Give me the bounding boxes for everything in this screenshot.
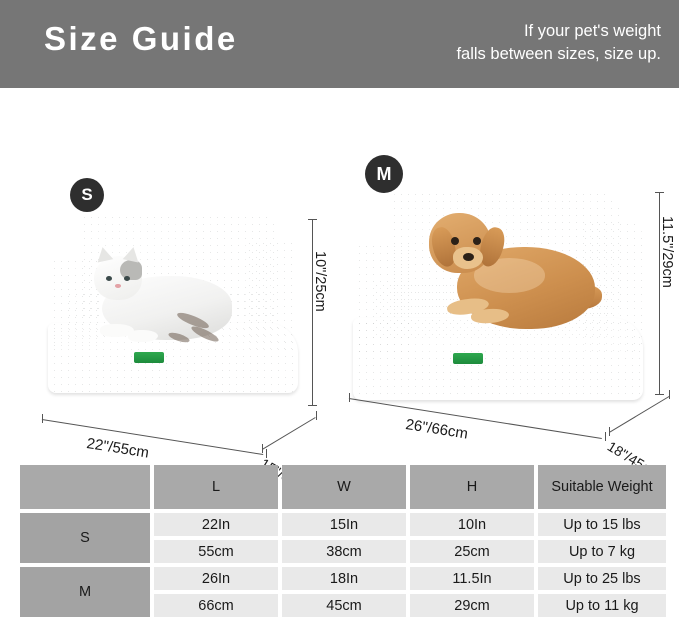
dimension-height-small: 10"/25cm xyxy=(298,215,338,415)
cat-eye-right xyxy=(124,276,130,281)
product-panel-medium: M xyxy=(345,150,675,435)
cat-eye-left xyxy=(106,276,112,281)
dog-eye-left xyxy=(451,237,459,245)
dog-head xyxy=(429,213,491,273)
subtitle-line-1: If your pet's weight xyxy=(401,20,661,43)
dog-illustration xyxy=(413,207,598,337)
brand-tag-medium xyxy=(453,353,483,364)
table-header-blank xyxy=(20,465,150,509)
cell-m-l-imperial: 26In xyxy=(154,567,278,590)
page-title: Size Guide xyxy=(44,17,238,61)
dimension-cap-bottom xyxy=(655,394,664,395)
dimension-line xyxy=(262,417,316,450)
dog-eye-right xyxy=(473,237,481,245)
table-header-row: L W H Suitable Weight xyxy=(20,465,666,509)
table-header-h: H xyxy=(410,465,534,509)
dimension-height-medium: 11.5"/29cm xyxy=(645,188,679,403)
cell-s-weight-imperial: Up to 15 lbs xyxy=(538,513,666,536)
dimension-width-label-small: 22"/55cm xyxy=(85,435,150,462)
cat-paw xyxy=(128,330,158,342)
cell-s-w-metric: 38cm xyxy=(282,540,406,563)
table-row: M 26In 18In 11.5In Up to 25 lbs xyxy=(20,567,666,590)
table-header-suitable-weight: Suitable Weight xyxy=(538,465,666,509)
specification-table: L W H Suitable Weight S 22In 15In 10In U… xyxy=(16,461,670,621)
dimension-width-label-medium: 26"/66cm xyxy=(404,416,469,443)
cell-m-weight-metric: Up to 11 kg xyxy=(538,594,666,617)
dimension-height-label-small: 10"/25cm xyxy=(312,251,328,312)
table-header-l: L xyxy=(154,465,278,509)
size-badge-small: S xyxy=(70,178,104,212)
dimension-cap-top xyxy=(308,219,317,220)
cell-m-h-metric: 29cm xyxy=(410,594,534,617)
table-row: S 22In 15In 10In Up to 15 lbs xyxy=(20,513,666,536)
dimension-cap-start xyxy=(42,414,43,423)
size-badge-medium: M xyxy=(365,155,403,193)
cell-m-l-metric: 66cm xyxy=(154,594,278,617)
table-size-label-m: M xyxy=(20,567,150,617)
dimension-cap-bottom xyxy=(308,405,317,406)
cell-m-w-imperial: 18In xyxy=(282,567,406,590)
product-panel-small: S xyxy=(30,163,330,433)
cell-s-l-metric: 55cm xyxy=(154,540,278,563)
cell-m-w-metric: 45cm xyxy=(282,594,406,617)
dimension-cap-start xyxy=(262,444,263,453)
dimension-cap-start xyxy=(349,393,350,402)
dimension-line xyxy=(312,219,313,405)
header-band: Size Guide If your pet's weight falls be… xyxy=(0,0,679,88)
cat-head xyxy=(94,256,142,300)
pet-bed-small-illustration xyxy=(48,208,298,393)
product-showcase: S xyxy=(0,88,679,455)
cell-s-l-imperial: 22In xyxy=(154,513,278,536)
subtitle-line-2: falls between sizes, size up. xyxy=(401,43,661,66)
dimension-height-label-medium: 11.5"/29cm xyxy=(659,216,675,288)
cat-nose xyxy=(115,284,121,288)
table-size-label-s: S xyxy=(20,513,150,563)
cell-s-weight-metric: Up to 7 kg xyxy=(538,540,666,563)
dimension-cap-start xyxy=(609,427,610,436)
cell-s-h-imperial: 10In xyxy=(410,513,534,536)
cell-s-h-metric: 25cm xyxy=(410,540,534,563)
cat-stripe xyxy=(167,331,190,344)
pet-bed-medium-illustration xyxy=(353,185,643,400)
dimension-cap-top xyxy=(655,192,664,193)
cell-s-w-imperial: 15In xyxy=(282,513,406,536)
brand-tag-small xyxy=(134,352,164,363)
header-subtitle: If your pet's weight falls between sizes… xyxy=(401,20,661,66)
table-header-w: W xyxy=(282,465,406,509)
cell-m-weight-imperial: Up to 25 lbs xyxy=(538,567,666,590)
dog-nose xyxy=(463,253,474,261)
cat-illustration xyxy=(84,248,236,348)
cell-m-h-imperial: 11.5In xyxy=(410,567,534,590)
